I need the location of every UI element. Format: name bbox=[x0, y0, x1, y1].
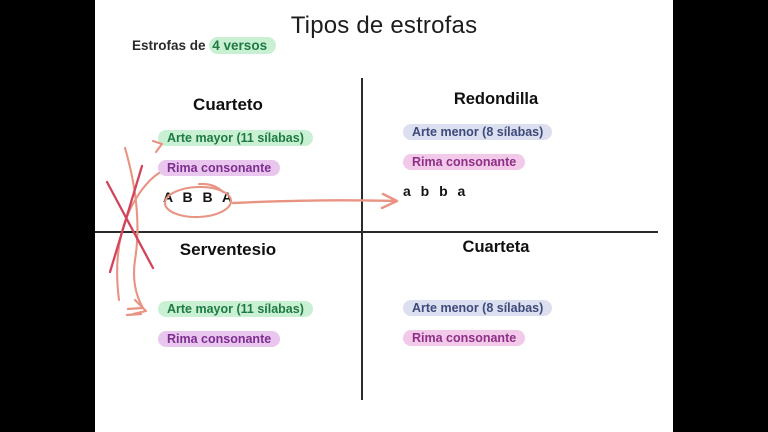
meter-tag-cuarteta: Arte menor (8 sílabas) bbox=[403, 300, 552, 316]
quadrant-serventesio: Serventesio Arte mayor (11 sílabas) Rima… bbox=[95, 240, 361, 360]
subtitle-prefix: Estrofas de bbox=[132, 38, 209, 53]
quadrant-heading-redondilla: Redondilla bbox=[363, 90, 629, 109]
rhyme-tag-redondilla: Rima consonante bbox=[403, 154, 525, 170]
slide-canvas: Tipos de estrofas Estrofas de 4 versos C… bbox=[95, 0, 673, 432]
ink-annotation-layer bbox=[95, 0, 673, 432]
quadrant-cuarteta: Cuarteta Arte menor (8 sílabas) Rima con… bbox=[363, 238, 629, 359]
quadrant-heading-cuarteto: Cuarteto bbox=[95, 95, 361, 115]
rhyme-tag-cuarteta: Rima consonante bbox=[403, 330, 525, 346]
rhyme-scheme-cuarteto: A B B A bbox=[163, 189, 361, 205]
quadrant-body-cuarteto: Arte mayor (11 sílabas) Rima consonante … bbox=[95, 129, 361, 205]
page-title: Tipos de estrofas bbox=[95, 12, 673, 40]
meter-tag-redondilla: Arte menor (8 sílabas) bbox=[403, 124, 552, 140]
slide-subtitle: Estrofas de 4 versos bbox=[132, 38, 276, 53]
quadrant-cuarteto: Cuarteto Arte mayor (11 sílabas) Rima co… bbox=[95, 95, 361, 205]
quadrant-heading-cuarteta: Cuarteta bbox=[363, 238, 629, 257]
meter-tag-cuarteto: Arte mayor (11 sílabas) bbox=[158, 130, 313, 146]
meter-tag-serventesio: Arte mayor (11 sílabas) bbox=[158, 301, 313, 317]
subtitle-highlight: 4 versos bbox=[209, 37, 276, 54]
quadrant-body-redondilla: Arte menor (8 sílabas) Rima consonante a… bbox=[363, 123, 629, 199]
video-frame: Tipos de estrofas Estrofas de 4 versos C… bbox=[0, 0, 768, 432]
quadrant-body-serventesio: Arte mayor (11 sílabas) Rima consonante bbox=[95, 274, 361, 360]
rhyme-tag-cuarteto: Rima consonante bbox=[158, 160, 280, 176]
rhyme-tag-serventesio: Rima consonante bbox=[158, 331, 280, 347]
rhyme-scheme-redondilla: a b b a bbox=[403, 183, 629, 199]
quadrant-redondilla: Redondilla Arte menor (8 sílabas) Rima c… bbox=[363, 90, 629, 199]
horizontal-divider bbox=[95, 231, 658, 233]
quadrant-body-cuarteta: Arte menor (8 sílabas) Rima consonante bbox=[363, 271, 629, 359]
quadrant-heading-serventesio: Serventesio bbox=[95, 240, 361, 260]
